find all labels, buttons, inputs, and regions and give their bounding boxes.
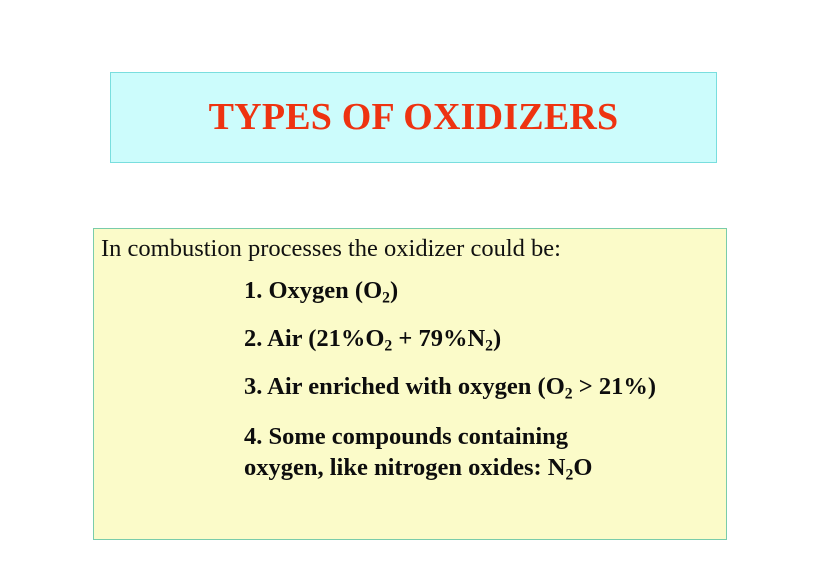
slide-canvas: TYPES OF OXIDIZERS In combustion process… <box>0 0 828 585</box>
item-text: 2. Air (21%O <box>244 325 384 352</box>
title-box: TYPES OF OXIDIZERS <box>110 72 717 163</box>
item-text: 4. Some compounds containing oxygen, lik… <box>244 423 568 481</box>
list-item: 4. Some compounds containing oxygen, lik… <box>244 421 644 484</box>
list-item: 3. Air enriched with oxygen (O2 > 21%) <box>244 373 720 402</box>
item-text: ) <box>493 325 501 352</box>
item-text: 3. Air enriched with oxygen (O <box>244 373 565 400</box>
list-item: 1. Oxygen (O2) <box>244 277 720 306</box>
item-text: ) <box>390 277 398 304</box>
page-title: TYPES OF OXIDIZERS <box>209 98 619 138</box>
subscript: 2 <box>565 385 573 402</box>
intro-text: In combustion processes the oxidizer cou… <box>101 234 561 265</box>
item-text: 1. Oxygen (O <box>244 277 382 304</box>
item-text: + 79%N <box>392 325 485 352</box>
list-item: 2. Air (21%O2 + 79%N2) <box>244 325 720 354</box>
subscript: 2 <box>485 337 493 354</box>
item-text: O <box>573 454 592 481</box>
content-box: In combustion processes the oxidizer cou… <box>93 228 727 540</box>
subscript: 2 <box>382 289 390 306</box>
item-text: > 21%) <box>573 373 656 400</box>
oxidizer-list: 1. Oxygen (O2)2. Air (21%O2 + 79%N2)3. A… <box>244 277 720 483</box>
